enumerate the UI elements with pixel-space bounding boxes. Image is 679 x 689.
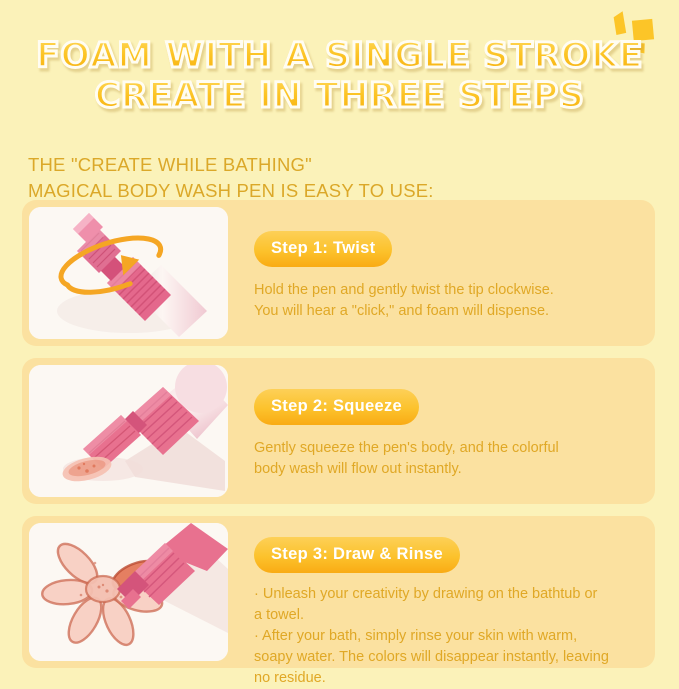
step-card-1: Step 1: Twist Hold the pen and gently tw…: [22, 200, 655, 346]
step-3-line-3: · After your bath, simply rinse your ski…: [254, 626, 648, 647]
step-1-photo: [29, 207, 228, 339]
step-1-line-2: You will hear a "click," and foam will d…: [254, 301, 648, 322]
step-1-badge: Step 1: Twist: [254, 231, 392, 267]
subtitle-line-1: THE "CREATE WHILE BATHING": [28, 152, 434, 178]
page-title-line-1: FOAM WITH A SINGLE STROKE: [0, 36, 679, 76]
step-3-line-4: soapy water. The colors will disappear i…: [254, 647, 648, 668]
page-header: FOAM WITH A SINGLE STROKE CREATE IN THRE…: [0, 36, 679, 116]
step-3-badge: Step 3: Draw & Rinse: [254, 537, 460, 573]
step-2-badge: Step 2: Squeeze: [254, 389, 419, 425]
step-2-photo: [29, 365, 228, 497]
step-1-content: Step 1: Twist Hold the pen and gently tw…: [228, 207, 648, 322]
step-card-2: Step 2: Squeeze Gently squeeze the pen's…: [22, 358, 655, 504]
step-3-photo: [29, 523, 228, 661]
page-title-line-2: CREATE IN THREE STEPS: [0, 76, 679, 116]
step-2-line-2: body wash will flow out instantly.: [254, 459, 648, 480]
step-3-line-5: no residue.: [254, 668, 648, 689]
step-1-line-1: Hold the pen and gently twist the tip cl…: [254, 280, 648, 301]
step-3-description: · Unleash your creativity by drawing on …: [254, 584, 648, 689]
step-1-description: Hold the pen and gently twist the tip cl…: [254, 280, 648, 322]
step-3-line-2: a towel.: [254, 605, 648, 626]
step-3-content: Step 3: Draw & Rinse · Unleash your crea…: [228, 523, 648, 689]
step-card-3: Step 3: Draw & Rinse · Unleash your crea…: [22, 516, 655, 668]
step-2-content: Step 2: Squeeze Gently squeeze the pen's…: [228, 365, 648, 480]
page-subtitle: THE "CREATE WHILE BATHING" MAGICAL BODY …: [28, 152, 434, 204]
step-2-line-1: Gently squeeze the pen's body, and the c…: [254, 438, 648, 459]
step-2-description: Gently squeeze the pen's body, and the c…: [254, 438, 648, 480]
step-3-line-1: · Unleash your creativity by drawing on …: [254, 584, 648, 605]
